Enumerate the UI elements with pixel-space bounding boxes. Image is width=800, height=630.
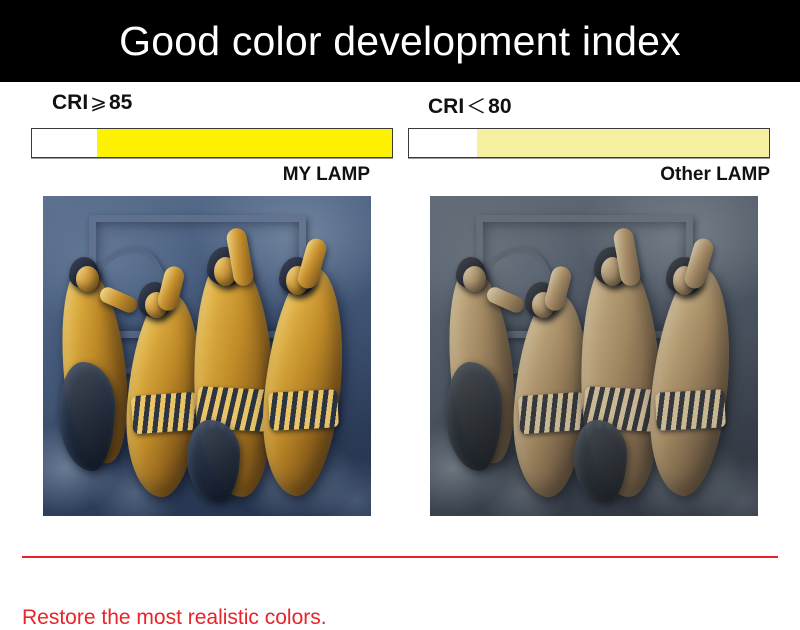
bottom-divider [22, 556, 778, 558]
relief-sculpture-image-high-cri [43, 196, 371, 516]
cri-bar-right-fill-segment [477, 129, 769, 157]
panel-other-lamp: CRI＜80 Other LAMP [400, 82, 800, 522]
relief-figure-skirt [130, 392, 198, 435]
cri-operator-left: ⩾ [88, 92, 109, 114]
cri-bar-left [31, 128, 393, 158]
cri-bar-right [408, 128, 770, 158]
relief-figure-skirt [268, 389, 339, 431]
cri-label-left: CRI⩾85 [52, 90, 132, 115]
cri-prefix-right: CRI [428, 95, 464, 118]
cri-value-left: 85 [109, 91, 132, 114]
lamp-label-my-lamp: MY LAMP [283, 164, 370, 186]
cri-bar-right-empty-segment [409, 129, 477, 157]
panel-my-lamp: CRI⩾85 MY LAMP [0, 82, 400, 522]
lamp-label-other-lamp: Other LAMP [660, 164, 770, 186]
cri-bar-left-fill-segment [97, 129, 392, 157]
photo-my-lamp [43, 196, 371, 516]
cri-bar-left-empty-segment [32, 129, 97, 157]
relief-figure-skirt [517, 392, 585, 435]
cri-label-right: CRI＜80 [428, 90, 512, 119]
photo-other-lamp [430, 196, 758, 516]
relief-figure-skirt [655, 389, 726, 431]
cri-prefix-left: CRI [52, 91, 88, 114]
relief-figure-head [463, 266, 486, 292]
cri-value-right: 80 [488, 95, 511, 118]
caption-left: Restore the most realistic colors. [22, 606, 327, 630]
relief-sculpture-image-low-cri [430, 196, 758, 516]
relief-figure-head [76, 266, 99, 292]
cri-operator-right: ＜ [464, 96, 488, 118]
page-title: Good color development index [119, 21, 681, 62]
title-banner: Good color development index [0, 0, 800, 82]
